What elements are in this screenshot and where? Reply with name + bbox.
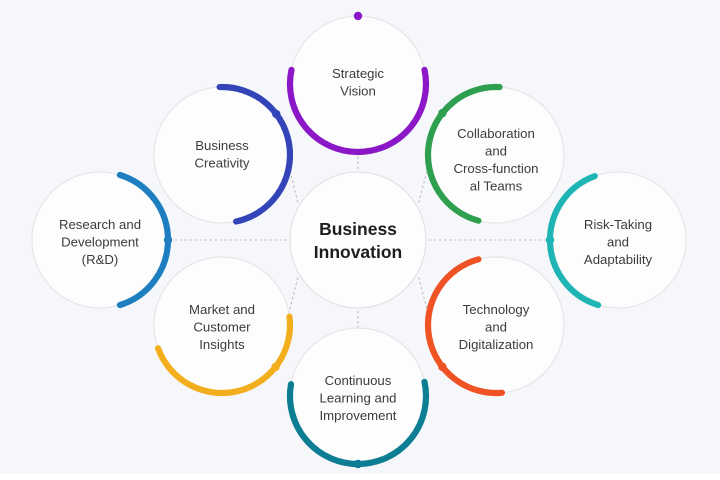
node-label-line: Market and	[189, 302, 255, 317]
node-label-line: al Teams	[470, 179, 523, 194]
node-label-line: Development	[61, 235, 139, 250]
center-node-group[interactable]: BusinessInnovation	[290, 172, 426, 308]
node-label-line: Creativity	[195, 156, 250, 171]
node-business-creativity[interactable]: BusinessCreativity	[154, 87, 290, 223]
node-label-line: Improvement	[320, 408, 397, 423]
node-risk-taking-and-adaptability[interactable]: Risk-TakingandAdaptability	[546, 172, 686, 308]
node-knob-technology-and-digitalization	[438, 363, 446, 371]
node-label-continuous-learning-and-improvement: ContinuousLearning andImprovement	[320, 373, 397, 423]
node-label-line: Risk-Taking	[584, 217, 652, 232]
node-continuous-learning-and-improvement[interactable]: ContinuousLearning andImprovement	[290, 328, 426, 468]
center-label-line: Innovation	[314, 242, 402, 262]
node-label-line: Strategic	[332, 66, 384, 81]
node-collaboration-and-cross-functional-teams[interactable]: CollaborationandCross-functional Teams	[428, 87, 564, 223]
node-label-line: Technology	[463, 302, 530, 317]
center-circle	[290, 172, 426, 308]
node-knob-research-and-development	[164, 236, 172, 244]
node-label-line: and	[485, 144, 507, 159]
node-label-line: and	[485, 320, 507, 335]
node-strategic-vision[interactable]: StrategicVision	[290, 12, 426, 152]
node-market-and-customer-insights[interactable]: Market andCustomerInsights	[154, 257, 290, 393]
node-label-line: Cross-function	[453, 161, 538, 176]
node-knob-strategic-vision	[354, 12, 362, 20]
center-node: BusinessInnovation	[290, 172, 426, 308]
business-innovation-diagram: StrategicVisionBusinessCreativityResearc…	[0, 0, 720, 480]
node-knob-market-and-customer-insights	[271, 363, 279, 371]
node-technology-and-digitalization[interactable]: TechnologyandDigitalization	[428, 257, 564, 393]
node-label-line: Collaboration	[457, 126, 535, 141]
node-knob-continuous-learning-and-improvement	[354, 460, 362, 468]
node-label-line: and	[607, 235, 629, 250]
node-label-line: Insights	[199, 337, 245, 352]
node-label-line: (R&D)	[82, 252, 119, 267]
node-label-line: Digitalization	[459, 337, 534, 352]
node-label-line: Customer	[193, 320, 251, 335]
node-knob-collaboration-and-cross-functional-teams	[438, 109, 446, 117]
node-label-line: Business	[195, 138, 249, 153]
node-label-line: Continuous	[325, 373, 392, 388]
center-label-line: Business	[319, 219, 397, 239]
node-knob-business-creativity	[272, 110, 280, 118]
node-knob-risk-taking-and-adaptability	[546, 236, 554, 244]
node-label-line: Vision	[340, 84, 376, 99]
node-research-and-development[interactable]: Research andDevelopment(R&D)	[32, 172, 172, 308]
node-label-line: Learning and	[320, 391, 397, 406]
node-label-line: Adaptability	[584, 252, 653, 267]
diagram-canvas: StrategicVisionBusinessCreativityResearc…	[0, 0, 720, 480]
node-label-line: Research and	[59, 217, 141, 232]
canvas-bottom-edge	[0, 474, 720, 480]
